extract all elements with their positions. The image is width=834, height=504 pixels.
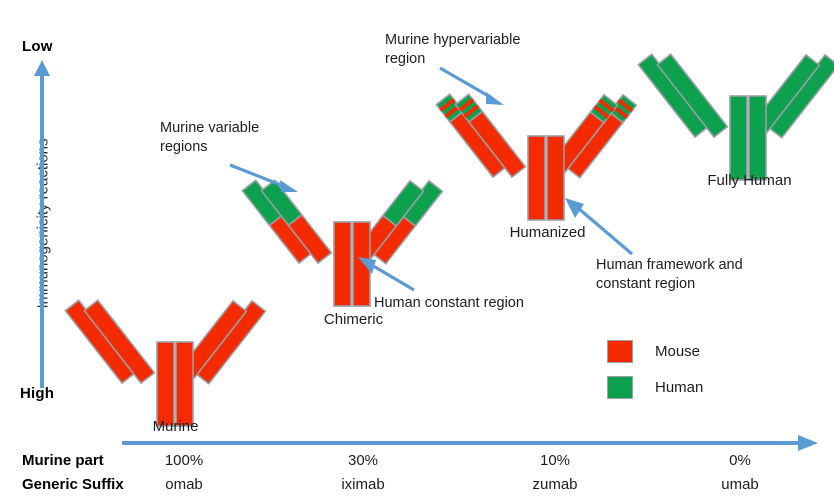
- callout-murine-hypervariable-region: Murine hypervariable region: [385, 31, 585, 69]
- cell-murine-part-2: 30%: [303, 452, 423, 469]
- cell-murine-part-3: 10%: [495, 452, 615, 469]
- row-label-generic-suffix: Generic Suffix: [22, 476, 124, 493]
- legend-item-human: Human: [607, 376, 703, 399]
- legend-item-mouse: Mouse: [607, 340, 703, 363]
- callout-human-framework-constant-line2: constant region: [596, 275, 806, 294]
- callout-human-constant-region: Human constant region: [374, 294, 604, 313]
- bottom-table: Murine part Generic Suffix 100% omab 30%…: [0, 452, 834, 502]
- cell-generic-suffix-4: umab: [680, 476, 800, 493]
- callout-murine-hypervariable-region-line1: Murine hypervariable: [385, 31, 585, 50]
- legend-label-mouse: Mouse: [655, 343, 700, 360]
- callout-arrow-murine-variable-regions: [228, 162, 300, 196]
- x-axis-arrow: [120, 432, 820, 454]
- callout-murine-variable-regions-line1: Murine variable: [160, 119, 340, 138]
- antibody-murine-label: Murine: [123, 418, 228, 435]
- callout-murine-variable-regions: Murine variable regions: [160, 119, 340, 157]
- cell-generic-suffix-2: iximab: [303, 476, 423, 493]
- callout-human-constant-region-line1: Human constant region: [374, 294, 604, 313]
- mouse-swatch: [607, 340, 633, 363]
- antibody-fully-human-label: Fully Human: [672, 172, 827, 189]
- callout-arrow-human-framework-constant: [562, 196, 638, 258]
- antibody-chimeric-label: Chimeric: [296, 311, 411, 328]
- y-axis-top-label: Low: [22, 38, 53, 55]
- antibody-fully-human: Fully Human: [668, 32, 828, 182]
- callout-murine-variable-regions-line2: regions: [160, 138, 340, 157]
- callout-human-framework-constant-line1: Human framework and: [596, 256, 806, 275]
- row-label-murine-part: Murine part: [22, 452, 104, 469]
- y-axis-arrow: [28, 60, 56, 390]
- callout-arrow-human-constant-region: [356, 254, 418, 294]
- callout-human-framework-constant: Human framework and constant region: [596, 256, 806, 294]
- diagram-canvas: Low High Immunogenicity reactions Murine: [0, 0, 834, 504]
- cell-murine-part-4: 0%: [680, 452, 800, 469]
- antibody-fully-human-glyph: [668, 32, 828, 182]
- cell-murine-part-1: 100%: [124, 452, 244, 469]
- legend: Mouse Human: [607, 340, 703, 412]
- antibody-murine-glyph: [95, 278, 255, 428]
- antibody-murine: Murine: [95, 278, 255, 428]
- legend-label-human: Human: [655, 379, 703, 396]
- cell-generic-suffix-3: zumab: [495, 476, 615, 493]
- human-swatch: [607, 376, 633, 399]
- callout-arrow-murine-hypervariable-region: [438, 66, 508, 110]
- cell-generic-suffix-1: omab: [124, 476, 244, 493]
